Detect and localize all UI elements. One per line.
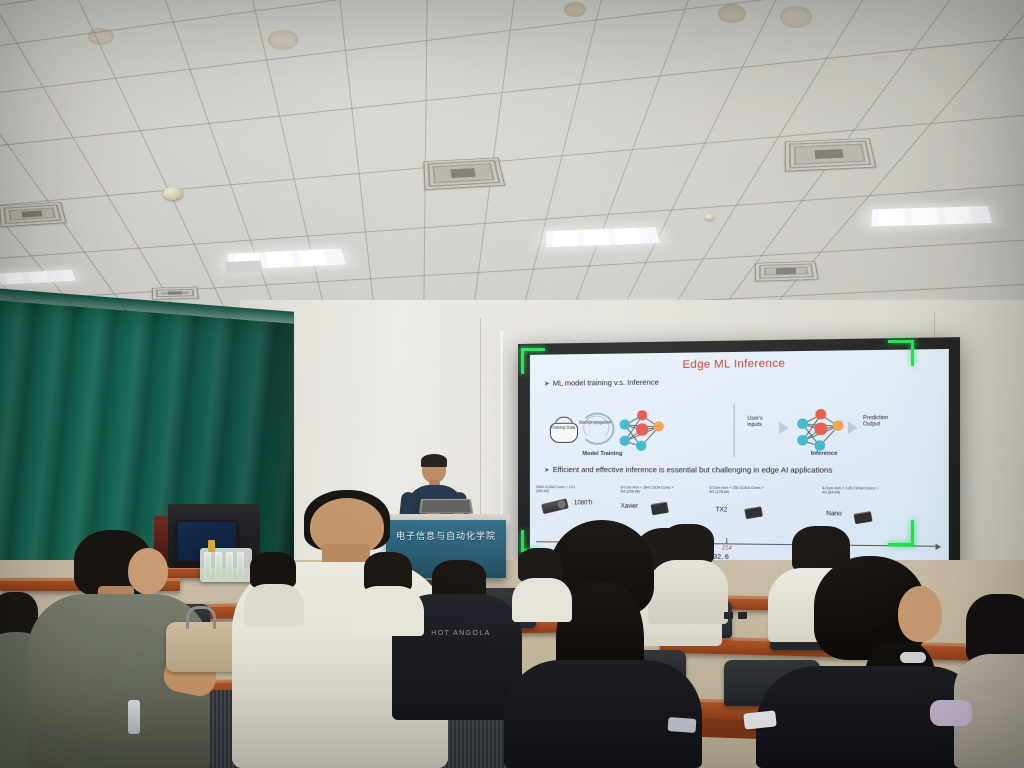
training-data-label: Training Data bbox=[550, 426, 576, 431]
presenter-hair bbox=[421, 454, 447, 467]
hw-spec-0: 3584 CUDA Cores + 11G (352-bit) bbox=[536, 485, 582, 494]
audience-member bbox=[960, 594, 1024, 768]
hw-spec-1: 8-Core Arm + 384 CUDA Cores + 8G (256-bi… bbox=[621, 485, 677, 494]
bullet-arrow-icon: ➤ bbox=[544, 381, 550, 388]
hw-name-3: Nano bbox=[826, 511, 841, 517]
edge-module-icon bbox=[854, 511, 873, 524]
backpropagation-cycle-icon: Backpropagation bbox=[580, 412, 610, 440]
air-diffuser-icon bbox=[785, 138, 876, 171]
head bbox=[898, 586, 942, 642]
neural-network-icon-inference bbox=[794, 407, 843, 449]
audience-member bbox=[356, 552, 420, 634]
nn-node bbox=[620, 420, 629, 429]
bullet-arrow-icon: ➤ bbox=[544, 467, 550, 474]
ceiling-light bbox=[225, 260, 263, 273]
edge-module-icon bbox=[651, 502, 669, 516]
slide-bullet-1: ➤ML model training v.s. Inference bbox=[544, 377, 659, 388]
neural-network-icon-training bbox=[617, 408, 664, 449]
slide-diagram: Training Data Backpropagation Model Trai… bbox=[536, 398, 942, 461]
nn-node bbox=[636, 424, 647, 435]
smoke-detector-icon bbox=[705, 214, 714, 220]
ceiling-stain bbox=[564, 2, 586, 17]
ceiling-stain bbox=[718, 4, 746, 23]
slide-bullet-2: ➤Efficient and effective inference is es… bbox=[544, 465, 917, 476]
smartphone[interactable] bbox=[668, 717, 697, 733]
nn-node bbox=[815, 423, 827, 435]
nn-node bbox=[637, 410, 647, 420]
torso bbox=[352, 586, 424, 636]
screen-corner-bracket-top-left bbox=[521, 348, 545, 374]
nn-node bbox=[815, 441, 825, 451]
hw-name-2: TX2 bbox=[716, 507, 728, 513]
ceiling-stain bbox=[268, 30, 298, 50]
nn-node bbox=[798, 419, 808, 429]
cup bbox=[208, 540, 215, 552]
arrow-right-icon bbox=[848, 421, 858, 434]
hair-clip bbox=[900, 652, 926, 663]
audience-member bbox=[246, 552, 302, 622]
water-bottle[interactable] bbox=[128, 700, 140, 734]
air-diffuser-icon bbox=[152, 287, 199, 300]
edge-module-icon bbox=[744, 506, 762, 519]
nn-node bbox=[833, 421, 843, 431]
ceiling-grid-line bbox=[0, 165, 1024, 273]
prediction-output-label: Prediction Output bbox=[863, 415, 907, 428]
head bbox=[128, 548, 168, 594]
model-training-caption: Model Training bbox=[552, 451, 654, 457]
hw-name-0: 1080Ti bbox=[574, 500, 592, 506]
smoke-detector-icon bbox=[163, 187, 183, 200]
nn-node bbox=[798, 436, 808, 446]
classroom-photo: Edge ML Inference ➤ML model training v.s… bbox=[0, 0, 1024, 768]
marker[interactable] bbox=[738, 612, 747, 619]
torso bbox=[512, 578, 572, 622]
inference-caption: Inference bbox=[781, 451, 867, 457]
air-diffuser-icon bbox=[423, 157, 505, 189]
ceiling-light bbox=[871, 206, 992, 226]
backprop-label: Backpropagation bbox=[578, 420, 612, 425]
screen-corner-bracket-top-right bbox=[888, 340, 914, 366]
nn-node bbox=[816, 409, 826, 419]
torso bbox=[244, 584, 304, 626]
hw-name-1: Xavier bbox=[621, 504, 638, 510]
hair bbox=[250, 552, 296, 588]
air-diffuser-icon bbox=[755, 261, 819, 281]
diagram-divider bbox=[734, 403, 735, 457]
gpu-card-icon bbox=[541, 498, 569, 514]
marker[interactable] bbox=[724, 612, 733, 619]
torso bbox=[504, 660, 702, 768]
air-diffuser-icon bbox=[0, 202, 67, 227]
ceiling-grid-line bbox=[0, 0, 1024, 3]
slide-title: Edge ML Inference bbox=[530, 355, 949, 373]
screen-corner-bracket-bottom-right bbox=[888, 520, 914, 546]
hair bbox=[518, 548, 562, 582]
users-inputs-label: User's inputs bbox=[747, 416, 775, 429]
ceiling-stain bbox=[780, 6, 812, 28]
hw-spec-2: 6-Core Arm + 256 CUDA Cores + 8G (128-bi… bbox=[709, 486, 768, 495]
bag-strap bbox=[186, 606, 216, 629]
smartphone[interactable] bbox=[743, 710, 776, 729]
audience-member bbox=[512, 548, 572, 618]
training-data-bag-icon: Training Data bbox=[550, 417, 576, 441]
nn-node bbox=[654, 422, 663, 431]
nn-node bbox=[636, 441, 645, 450]
cloth-item bbox=[930, 700, 972, 726]
nn-node bbox=[620, 436, 629, 445]
hw-spec-3: 4-Core Arm + 128 CUDA Cores + 4G (64-bit… bbox=[822, 486, 883, 495]
arrow-right-icon bbox=[779, 422, 789, 434]
ceiling-stain bbox=[88, 28, 114, 45]
